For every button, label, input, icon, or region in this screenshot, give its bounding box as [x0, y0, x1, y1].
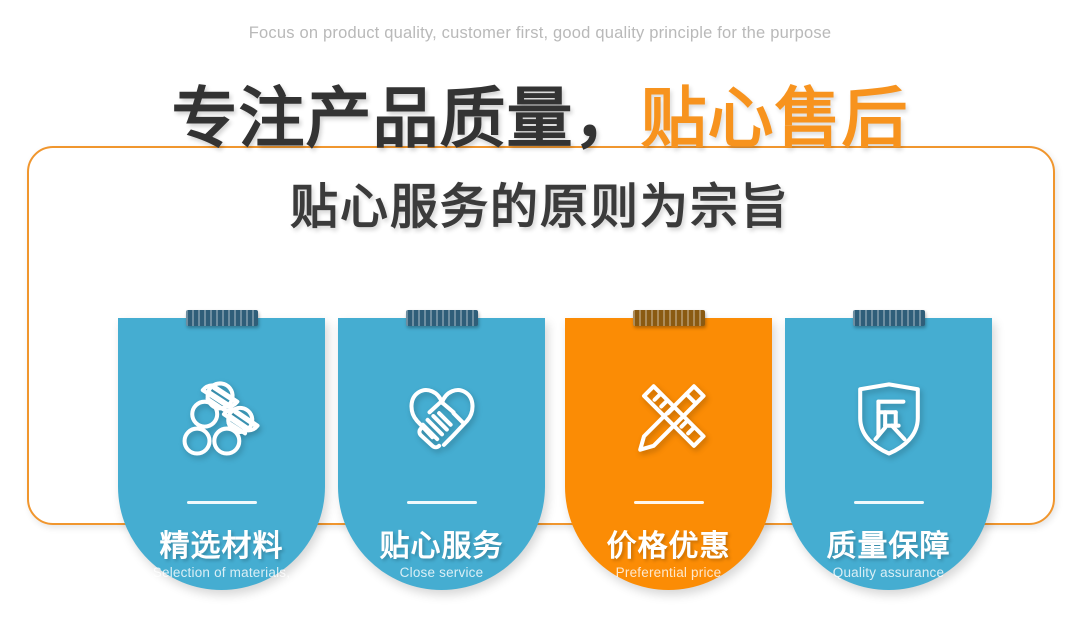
shield-quality-icon — [785, 362, 992, 474]
card-title: 价格优惠 — [565, 521, 772, 565]
card-subtitle: Quality assurance — [785, 565, 992, 580]
headline-primary-accent: 贴心售后 — [641, 81, 909, 155]
card-title: 精选材料 — [118, 521, 325, 565]
feature-card[interactable]: 贴心服务 Close service — [338, 318, 545, 590]
card-title: 贴心服务 — [338, 521, 545, 565]
headline-primary-dark: 专注产品质量， — [172, 81, 641, 155]
feature-card[interactable]: 精选材料 Selection of materials, — [118, 318, 325, 590]
heart-handshake-icon — [338, 362, 545, 474]
card-divider — [407, 501, 477, 504]
feature-card[interactable]: 质量保障 Quality assurance — [785, 318, 992, 590]
card-divider — [187, 501, 257, 504]
card-subtitle: Preferential price — [565, 565, 772, 580]
card-clip-tab — [186, 310, 258, 326]
pencil-ruler-icon — [565, 362, 772, 474]
headline-secondary: 贴心服务的原则为宗旨 — [0, 167, 1080, 237]
card-divider — [634, 501, 704, 504]
headline-block: 专注产品质量，贴心售后 贴心服务的原则为宗旨 — [0, 84, 1080, 237]
headline-primary: 专注产品质量，贴心售后 — [0, 84, 1080, 153]
card-subtitle: Selection of materials, — [118, 565, 325, 580]
card-clip-tab — [853, 310, 925, 326]
promo-banner: Focus on product quality, customer first… — [0, 0, 1080, 626]
card-divider — [854, 501, 924, 504]
feature-card-list: 精选材料 Selection of materials, — [118, 318, 992, 590]
card-clip-tab — [406, 310, 478, 326]
card-subtitle: Close service — [338, 565, 545, 580]
tagline-text: Focus on product quality, customer first… — [0, 24, 1080, 43]
card-title: 质量保障 — [785, 521, 992, 565]
feature-card[interactable]: 价格优惠 Preferential price — [565, 318, 772, 590]
logs-icon — [118, 362, 325, 474]
card-clip-tab — [633, 310, 705, 326]
